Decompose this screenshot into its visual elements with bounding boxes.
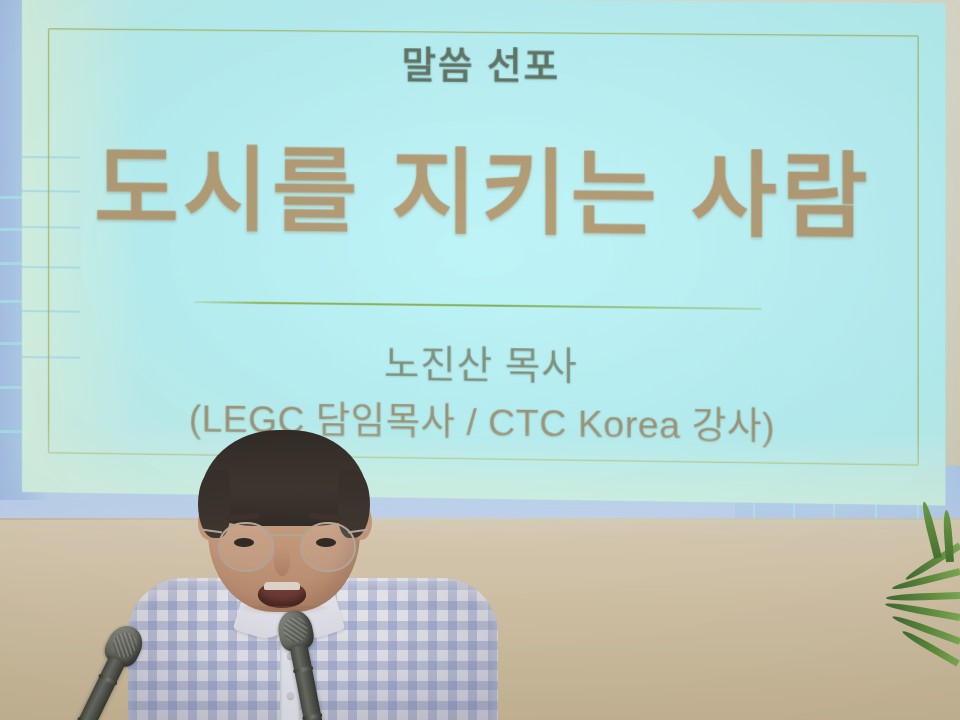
shirt-button (287, 692, 294, 699)
eye-right (316, 538, 336, 547)
glasses-lens-left (218, 522, 274, 572)
glasses-lens-right (300, 522, 356, 572)
slide-divider (194, 301, 761, 310)
nose (274, 546, 290, 576)
slide-speaker-name: 노진산 목사 (22, 328, 945, 395)
eye-left (234, 538, 254, 547)
screenshot-root: 말씀 선포 도시를 지키는 사람 노진산 목사 (LEGC 담임목사 / CTC… (0, 0, 960, 720)
slide-title: 도시를 지키는 사람 (22, 141, 945, 248)
slide-kicker: 말씀 선포 (22, 32, 945, 94)
potted-plant (900, 528, 960, 720)
glasses-bridge (268, 534, 302, 536)
teeth (264, 582, 300, 590)
